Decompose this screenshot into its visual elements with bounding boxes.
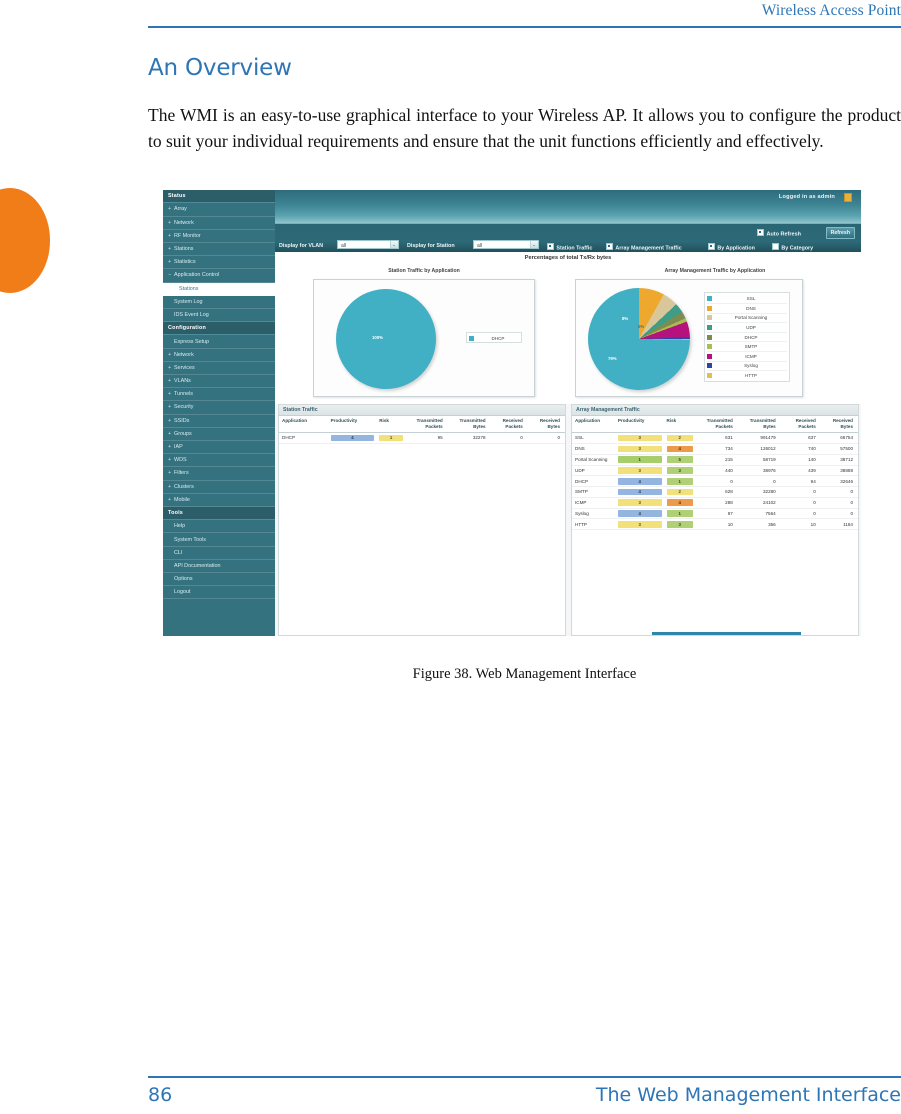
cell-transmitted-packets: 97 xyxy=(695,508,738,519)
column-header-transmitted-bytes[interactable]: Transmitted Bytes xyxy=(448,416,491,433)
sidebar-item-application-control[interactable]: −Application Control xyxy=(163,269,275,282)
productivity-badge: 3 xyxy=(618,499,662,506)
cell-productivity: 1 xyxy=(615,454,664,465)
sidebar-item-api-documentation[interactable]: API Documentation xyxy=(163,560,275,573)
array-traffic-pie[interactable] xyxy=(588,288,690,390)
sidebar-item-label: Security xyxy=(174,404,193,410)
cell-received-packets: 10 xyxy=(781,519,821,530)
cell-transmitted-bytes: 126012 xyxy=(738,443,781,454)
station-traffic-table-title: Station Traffic xyxy=(279,405,565,416)
cell-transmitted-packets: 10 xyxy=(695,519,738,530)
cell-received-bytes: 0 xyxy=(528,433,565,444)
cell-risk: 4 xyxy=(664,497,695,508)
productivity-badge: 3 xyxy=(618,446,662,453)
station-traffic-checkbox-icon[interactable] xyxy=(547,243,554,250)
cell-received-packets: 0 xyxy=(781,508,821,519)
cell-transmitted-bytes: 991479 xyxy=(738,433,781,444)
cell-productivity: 3 xyxy=(615,465,664,476)
table-header-row: ApplicationProductivityRiskTransmitted P… xyxy=(572,416,858,433)
cell-transmitted-bytes: 0 xyxy=(738,476,781,487)
risk-badge: 3 xyxy=(667,467,693,474)
column-header-transmitted-packets[interactable]: Transmitted Packets xyxy=(695,416,738,433)
sidebar-item-rf-monitor[interactable]: +RF Monitor xyxy=(163,230,275,243)
figure-image: Status+Array+Network+RF Monitor+Stations… xyxy=(163,190,861,636)
cell-received-packets: 439 xyxy=(781,465,821,476)
legend-label-dhcp: DHCP xyxy=(715,335,787,340)
cell-productivity: 4 xyxy=(328,433,377,444)
sidebar-item-label: System Tools xyxy=(174,537,206,543)
option-by-category-label: By Category xyxy=(781,245,813,251)
sidebar-item-label: Express Setup xyxy=(174,339,209,345)
sidebar-item-label: Statistics xyxy=(174,259,196,265)
productivity-badge: 4 xyxy=(618,489,662,496)
option-by-application-label: By Application xyxy=(717,245,755,251)
table-row[interactable]: SSL3263199147963766754 xyxy=(572,433,858,444)
legend-label-dns: DNS xyxy=(715,306,787,311)
sidebar-item-label: Clusters xyxy=(174,484,194,490)
station-traffic-pie[interactable] xyxy=(336,289,436,389)
legend-label-dhcp: DHCP xyxy=(477,336,519,341)
sidebar-item-label: Stations xyxy=(179,286,198,292)
array-traffic-table-title: Array Management Traffic xyxy=(572,405,858,416)
cell-transmitted-bytes: 38976 xyxy=(738,465,781,476)
cell-received-bytes: 0 xyxy=(821,497,858,508)
sidebar-item-ids-event-log[interactable]: IDS Event Log xyxy=(163,309,275,322)
cell-productivity: 3 xyxy=(615,433,664,444)
sidebar-item-array[interactable]: +Array xyxy=(163,203,275,216)
station-traffic-pie-panel: 100% DHCP xyxy=(313,279,535,397)
figure-caption: Figure 38. Web Management Interface xyxy=(148,666,901,683)
column-header-transmitted-packets[interactable]: Transmitted Packets xyxy=(405,416,448,433)
table-row[interactable]: ICMP342882410200 xyxy=(572,497,858,508)
sidebar-item-clusters[interactable]: +Clusters xyxy=(163,481,275,494)
column-header-received-bytes[interactable]: Received Bytes xyxy=(528,416,565,433)
legend-swatch-icmp xyxy=(707,354,712,359)
cell-transmitted-packets: 440 xyxy=(695,465,738,476)
array-pie-slice-label-portal: 5% xyxy=(638,324,644,329)
sidebar-item-label: SSIDs xyxy=(174,418,189,424)
wmi-main-panel: Logged in as admin Auto Refresh Refresh … xyxy=(275,190,861,636)
cell-transmitted-bytes: 32278 xyxy=(448,433,491,444)
productivity-badge: 3 xyxy=(618,435,662,442)
cell-application: DNS xyxy=(572,443,615,454)
productivity-badge: 4 xyxy=(618,478,662,485)
chevron-down-icon[interactable] xyxy=(530,241,538,248)
refresh-button[interactable]: Refresh xyxy=(826,227,855,238)
column-header-risk[interactable]: Risk xyxy=(376,416,405,433)
by-category-checkbox-icon[interactable] xyxy=(772,243,779,250)
user-badge-icon[interactable] xyxy=(844,193,852,202)
cell-risk: 3 xyxy=(664,465,695,476)
cell-received-packets: 637 xyxy=(781,433,821,444)
sidebar-item-label: Array xyxy=(174,206,187,212)
table-row[interactable]: SMTP426283228000 xyxy=(572,487,858,498)
station-chart-title: Station Traffic by Application xyxy=(279,268,569,274)
cell-application: UDP xyxy=(572,465,615,476)
footer-title: The Web Management Interface xyxy=(148,1084,901,1106)
cell-risk: 5 xyxy=(664,454,695,465)
sidebar-item-network[interactable]: +Network xyxy=(163,349,275,362)
legend-label-udp: UDP xyxy=(715,325,787,330)
column-header-productivity[interactable]: Productivity xyxy=(328,416,377,433)
array-traffic-table-wrap: Array Management Traffic ApplicationProd… xyxy=(571,404,859,636)
cell-application: DHCP xyxy=(279,433,328,444)
legend-row: ICMP xyxy=(707,352,787,362)
cell-risk: 1 xyxy=(376,433,405,444)
cell-transmitted-packets: 628 xyxy=(695,487,738,498)
sidebar-item-express-setup[interactable]: Express Setup xyxy=(163,335,275,348)
column-header-application[interactable]: Application xyxy=(279,416,328,433)
sidebar-item-label: Filters xyxy=(174,470,189,476)
cell-productivity: 3 xyxy=(615,443,664,454)
cell-risk: 1 xyxy=(664,508,695,519)
cell-received-bytes: 57500 xyxy=(821,443,858,454)
legend-row: Portal Scanning xyxy=(707,314,787,324)
legend-swatch-dns xyxy=(707,306,712,311)
sidebar-item-label: VLANs xyxy=(174,378,191,384)
cell-transmitted-bytes: 24102 xyxy=(738,497,781,508)
cell-transmitted-packets: 288 xyxy=(695,497,738,508)
option-by-category[interactable]: By Category xyxy=(772,243,813,252)
productivity-badge: 4 xyxy=(331,435,375,442)
sidebar-item-label: CLI xyxy=(174,550,182,556)
cell-productivity: 4 xyxy=(615,476,664,487)
legend-row: SMTP xyxy=(707,342,787,352)
productivity-badge: 4 xyxy=(618,510,662,517)
cell-received-bytes: 0 xyxy=(821,508,858,519)
legend-swatch-dhcp xyxy=(707,335,712,340)
wmi-tables-area: Station Traffic ApplicationProductivityR… xyxy=(275,404,861,636)
logged-in-label: Logged in as admin xyxy=(779,194,835,200)
option-array-management-traffic[interactable]: Array Management Traffic xyxy=(606,243,682,252)
page-edge-tab xyxy=(0,188,50,293)
cell-received-packets: 740 xyxy=(781,443,821,454)
station-pie-slice-label: 100% xyxy=(372,335,383,340)
option-array-management-traffic-label: Array Management Traffic xyxy=(615,245,681,251)
legend-row: DHCP xyxy=(707,333,787,343)
cell-transmitted-packets: 95 xyxy=(405,433,448,444)
auto-refresh-label: Auto Refresh xyxy=(766,232,801,238)
array-pie-slice-label-dns: 8% xyxy=(622,316,628,321)
station-traffic-table-wrap: Station Traffic ApplicationProductivityR… xyxy=(278,404,566,636)
cell-application: Portal Scanning xyxy=(572,454,615,465)
page-header-title: Wireless Access Point xyxy=(762,2,901,19)
header-rule xyxy=(148,26,901,28)
column-header-received-bytes[interactable]: Received Bytes xyxy=(821,416,858,433)
sidebar-section-configuration[interactable]: Configuration xyxy=(163,322,275,335)
risk-badge: 3 xyxy=(667,521,693,528)
legend-row: DNS xyxy=(707,304,787,314)
sidebar-item-ssids[interactable]: +SSIDs xyxy=(163,415,275,428)
sidebar-section-tools[interactable]: Tools xyxy=(163,507,275,520)
sidebar-item-vlans[interactable]: +VLANs xyxy=(163,375,275,388)
sidebar-item-statistics[interactable]: +Statistics xyxy=(163,256,275,269)
option-station-traffic[interactable]: Station Traffic xyxy=(547,243,592,252)
wmi-charts-area: Percentages of total Tx/Rx bytes Station… xyxy=(275,252,861,404)
footer-rule xyxy=(148,1076,901,1078)
sidebar-item-options[interactable]: Options xyxy=(163,573,275,586)
cell-received-packets: 0 xyxy=(491,433,528,444)
risk-badge: 4 xyxy=(667,446,693,453)
array-pie-legend: SSLDNSPortal ScanningUDPDHCPSMTPICMPSysl… xyxy=(704,292,790,382)
cell-risk: 2 xyxy=(664,487,695,498)
sidebar-item-stations[interactable]: Stations xyxy=(163,283,275,296)
station-traffic-table[interactable]: ApplicationProductivityRiskTransmitted P… xyxy=(279,416,565,444)
sidebar-item-wds[interactable]: +WDS xyxy=(163,454,275,467)
array-traffic-pie-panel: 8% 5% 79% SSLDNSPortal ScanningUDPDHCPSM… xyxy=(575,279,803,397)
station-select-value: all xyxy=(477,243,482,249)
risk-badge: 5 xyxy=(667,456,693,463)
sidebar-item-label: API Documentation xyxy=(174,563,220,569)
wmi-sidebar[interactable]: Status+Array+Network+RF Monitor+Stations… xyxy=(163,190,275,636)
legend-row: HTTP xyxy=(707,371,787,380)
cell-transmitted-bytes: 58719 xyxy=(738,454,781,465)
sidebar-item-help[interactable]: Help xyxy=(163,520,275,533)
cell-received-packets: 140 xyxy=(781,454,821,465)
station-select[interactable]: all xyxy=(473,240,539,249)
cell-received-bytes: 66754 xyxy=(821,433,858,444)
cell-transmitted-bytes: 7564 xyxy=(738,508,781,519)
cell-transmitted-bytes: 356 xyxy=(738,519,781,530)
array-traffic-table[interactable]: ApplicationProductivityRiskTransmitted P… xyxy=(572,416,858,530)
auto-refresh-checkbox-icon[interactable] xyxy=(757,229,764,236)
legend-swatch-dhcp xyxy=(469,336,474,341)
sidebar-item-label: Help xyxy=(174,523,185,529)
chevron-down-icon[interactable] xyxy=(390,241,398,248)
station-pie-legend: DHCP xyxy=(466,332,522,343)
table-row[interactable]: Portal Scanning152155871914038712 xyxy=(572,454,858,465)
table-row[interactable]: Syslog4197756400 xyxy=(572,508,858,519)
sidebar-section-status[interactable]: Status xyxy=(163,190,275,203)
risk-badge: 4 xyxy=(667,499,693,506)
legend-label-ssl: SSL xyxy=(715,296,787,301)
horizontal-scrollbar[interactable] xyxy=(652,632,801,635)
array-pie-slice-label-ssl: 79% xyxy=(608,356,617,361)
sidebar-item-label: Application Control xyxy=(174,272,219,278)
risk-badge: 1 xyxy=(667,510,693,517)
wmi-application: Status+Array+Network+RF Monitor+Stations… xyxy=(163,190,861,636)
wmi-top-banner: Logged in as admin xyxy=(275,190,861,223)
sidebar-item-label: Stations xyxy=(174,246,193,252)
cell-transmitted-bytes: 32280 xyxy=(738,487,781,498)
sidebar-item-filters[interactable]: +Filters xyxy=(163,467,275,480)
sidebar-item-groups[interactable]: +Groups xyxy=(163,428,275,441)
sidebar-item-label: Network xyxy=(174,220,194,226)
cell-received-packets: 94 xyxy=(781,476,821,487)
wmi-control-bar: Auto Refresh Refresh Display for VLAN al… xyxy=(275,223,861,253)
charts-heading: Percentages of total Tx/Rx bytes xyxy=(275,255,861,261)
cell-application: Syslog xyxy=(572,508,615,519)
sidebar-item-iap[interactable]: +IAP xyxy=(163,441,275,454)
cell-productivity: 4 xyxy=(615,508,664,519)
table-row[interactable]: DNS3473412601274057500 xyxy=(572,443,858,454)
sidebar-item-label: Options xyxy=(174,576,193,582)
sidebar-item-mobile[interactable]: +Mobile xyxy=(163,494,275,507)
cell-received-bytes: 1184 xyxy=(821,519,858,530)
cell-received-bytes: 38712 xyxy=(821,454,858,465)
array-chart-title: Array Management Traffic by Application xyxy=(575,268,855,274)
sidebar-item-label: Logout xyxy=(174,589,191,595)
cell-transmitted-packets: 734 xyxy=(695,443,738,454)
cell-received-bytes: 0 xyxy=(821,487,858,498)
productivity-badge: 3 xyxy=(618,521,662,528)
vlan-select[interactable]: all xyxy=(337,240,399,249)
column-header-risk[interactable]: Risk xyxy=(664,416,695,433)
option-by-application[interactable]: By Application xyxy=(708,243,755,252)
wmi-filter-row: Display for VLAN all Display for Station… xyxy=(275,240,861,251)
risk-badge: 2 xyxy=(667,435,693,442)
legend-swatch-ssl xyxy=(707,296,712,301)
sidebar-item-label: Mobile xyxy=(174,497,190,503)
productivity-badge: 1 xyxy=(618,456,662,463)
sidebar-item-system-log[interactable]: System Log xyxy=(163,296,275,309)
body-paragraph: The WMI is an easy-to-use graphical inte… xyxy=(148,102,901,155)
sidebar-item-label: RF Monitor xyxy=(174,233,201,239)
productivity-badge: 3 xyxy=(618,467,662,474)
cell-risk: 3 xyxy=(664,519,695,530)
page-title: An Overview xyxy=(148,55,292,81)
column-header-productivity[interactable]: Productivity xyxy=(615,416,664,433)
cell-productivity: 3 xyxy=(615,497,664,508)
cell-application: HTTP xyxy=(572,519,615,530)
sidebar-item-security[interactable]: +Security xyxy=(163,401,275,414)
column-header-received-packets[interactable]: Received Packets xyxy=(491,416,528,433)
sidebar-item-label: Network xyxy=(174,352,194,358)
table-header-row: ApplicationProductivityRiskTransmitted P… xyxy=(279,416,565,433)
legend-label-portal-scanning: Portal Scanning xyxy=(715,315,787,320)
cell-risk: 1 xyxy=(664,476,695,487)
sidebar-item-label: Services xyxy=(174,365,195,371)
cell-received-packets: 0 xyxy=(781,497,821,508)
legend-row: UDP xyxy=(707,323,787,333)
array-management-traffic-checkbox-icon[interactable] xyxy=(606,243,613,250)
risk-badge: 1 xyxy=(667,478,693,485)
vlan-filter-label: Display for VLAN xyxy=(279,243,323,249)
sidebar-item-services[interactable]: +Services xyxy=(163,362,275,375)
column-header-transmitted-bytes[interactable]: Transmitted Bytes xyxy=(738,416,781,433)
legend-row: SSL xyxy=(707,295,787,305)
sidebar-item-stations[interactable]: +Stations xyxy=(163,243,275,256)
sidebar-item-label: Groups xyxy=(174,431,192,437)
vlan-select-value: all xyxy=(341,243,346,249)
option-station-traffic-label: Station Traffic xyxy=(556,245,592,251)
legend-swatch-http xyxy=(707,373,712,378)
cell-application: DHCP xyxy=(572,476,615,487)
legend-label-smtp: SMTP xyxy=(715,344,787,349)
cell-application: ICMP xyxy=(572,497,615,508)
cell-application: SSL xyxy=(572,433,615,444)
cell-productivity: 3 xyxy=(615,519,664,530)
sidebar-item-tunnels[interactable]: +Tunnels xyxy=(163,388,275,401)
sidebar-item-label: WDS xyxy=(174,457,187,463)
column-header-received-packets[interactable]: Received Packets xyxy=(781,416,821,433)
cell-transmitted-packets: 215 xyxy=(695,454,738,465)
sidebar-item-cli[interactable]: CLI xyxy=(163,547,275,560)
page-header: Wireless Access Point xyxy=(148,2,901,20)
auto-refresh-toggle[interactable]: Auto Refresh xyxy=(757,229,801,238)
cell-received-bytes: 32646 xyxy=(821,476,858,487)
table-row[interactable]: HTTP3310356101184 xyxy=(572,519,858,530)
legend-swatch-portal-scanning xyxy=(707,315,712,320)
legend-swatch-udp xyxy=(707,325,712,330)
cell-received-bytes: 38888 xyxy=(821,465,858,476)
legend-swatch-smtp xyxy=(707,344,712,349)
cell-risk: 2 xyxy=(664,433,695,444)
cell-received-packets: 0 xyxy=(781,487,821,498)
legend-swatch-syslog xyxy=(707,363,712,368)
table-row[interactable]: UDP334403897643938888 xyxy=(572,465,858,476)
by-application-checkbox-icon[interactable] xyxy=(708,243,715,250)
station-filter-label: Display for Station xyxy=(407,243,455,249)
cell-transmitted-packets: 0 xyxy=(695,476,738,487)
sidebar-item-label: IDS Event Log xyxy=(174,312,209,318)
sidebar-item-label: System Log xyxy=(174,299,202,305)
legend-label-icmp: ICMP xyxy=(715,354,787,359)
legend-row: Syslog xyxy=(707,362,787,372)
table-row[interactable]: DHCP41009432646 xyxy=(572,476,858,487)
sidebar-item-system-tools[interactable]: System Tools xyxy=(163,533,275,546)
cell-productivity: 4 xyxy=(615,487,664,498)
cell-application: SMTP xyxy=(572,487,615,498)
sidebar-item-label: Tunnels xyxy=(174,391,193,397)
column-header-application[interactable]: Application xyxy=(572,416,615,433)
legend-label-http: HTTP xyxy=(715,373,787,378)
sidebar-item-label: IAP xyxy=(174,444,183,450)
sidebar-item-logout[interactable]: Logout xyxy=(163,586,275,599)
legend-label-syslog: Syslog xyxy=(715,363,787,368)
risk-badge: 2 xyxy=(667,489,693,496)
cell-risk: 4 xyxy=(664,443,695,454)
risk-badge: 1 xyxy=(379,435,403,442)
cell-transmitted-packets: 631 xyxy=(695,433,738,444)
table-row[interactable]: DHCP41953227800 xyxy=(279,433,565,444)
sidebar-item-network[interactable]: +Network xyxy=(163,217,275,230)
